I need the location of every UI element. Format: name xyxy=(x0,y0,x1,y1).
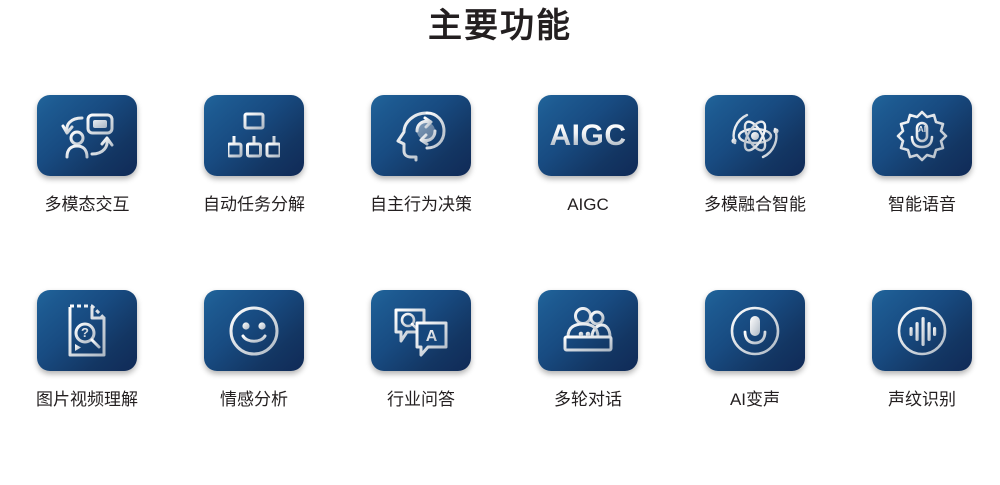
feature-label: AIGC xyxy=(567,194,609,216)
feature-item-multimodal-fusion[interactable]: 多模融合智能 xyxy=(679,95,831,290)
feature-label: 图片视频理解 xyxy=(36,389,138,411)
aigc-text-icon: AIGC xyxy=(550,121,627,151)
feature-label: 多轮对话 xyxy=(554,389,622,411)
feature-tile[interactable] xyxy=(705,95,805,176)
feature-label: 多模融合智能 xyxy=(704,194,806,216)
feature-tile[interactable] xyxy=(538,290,638,371)
feature-label: 多模态交互 xyxy=(45,194,130,216)
feature-item-intelligent-voice[interactable]: AI 智能语音 xyxy=(846,95,998,290)
atom-orbit-icon xyxy=(727,109,783,163)
feature-tile[interactable] xyxy=(705,290,805,371)
feature-label: 自主行为决策 xyxy=(370,194,472,216)
feature-item-aigc[interactable]: AIGC AIGC xyxy=(512,95,664,290)
feature-tile[interactable] xyxy=(204,95,304,176)
document-search-question-icon: ? xyxy=(64,304,110,358)
feature-tile[interactable] xyxy=(37,95,137,176)
answer-letter: A xyxy=(426,328,438,345)
head-refresh-icon xyxy=(394,110,448,162)
feature-row: 多模态交互 自动任务分 xyxy=(0,95,1000,290)
feature-label: 情感分析 xyxy=(220,389,288,411)
page-title: 主要功能 xyxy=(0,4,1000,48)
ai-label: AI xyxy=(918,125,926,134)
feature-item-autonomous-decision[interactable]: 自主行为决策 xyxy=(345,95,497,290)
feature-label: AI变声 xyxy=(730,389,780,411)
feature-tile[interactable] xyxy=(204,290,304,371)
feature-tile[interactable]: AIGC xyxy=(538,95,638,176)
feature-label: 声纹识别 xyxy=(888,389,956,411)
feature-tile[interactable]: AI xyxy=(872,95,972,176)
feature-item-industry-qa[interactable]: A 行业问答 xyxy=(345,290,497,485)
microphone-circle-icon xyxy=(729,305,781,357)
group-conversation-icon xyxy=(559,307,617,355)
feature-row: ? 图片视频理解 情感 xyxy=(0,290,1000,485)
feature-grid: 多模态交互 自动任务分 xyxy=(0,95,1000,485)
gear-ai-microphone-icon: AI xyxy=(895,110,949,162)
feature-tile[interactable] xyxy=(371,95,471,176)
smiley-face-icon xyxy=(228,305,280,357)
feature-label: 智能语音 xyxy=(888,194,956,216)
user-screen-exchange-icon xyxy=(58,110,116,162)
feature-tile[interactable] xyxy=(872,290,972,371)
qa-speech-bubbles-icon: A xyxy=(393,305,449,357)
feature-item-image-video-understanding[interactable]: ? 图片视频理解 xyxy=(11,290,163,485)
feature-label: 自动任务分解 xyxy=(203,194,305,216)
feature-item-voiceprint-recognition[interactable]: 声纹识别 xyxy=(846,290,998,485)
feature-label: 行业问答 xyxy=(387,389,455,411)
feature-item-multimodal-interaction[interactable]: 多模态交互 xyxy=(11,95,163,290)
voiceprint-waveform-icon xyxy=(896,305,948,357)
feature-item-multi-turn-dialogue[interactable]: 多轮对话 xyxy=(512,290,664,485)
feature-item-sentiment-analysis[interactable]: 情感分析 xyxy=(178,290,330,485)
feature-tile[interactable]: ? xyxy=(37,290,137,371)
question-mark: ? xyxy=(81,325,89,340)
feature-item-auto-task-decomposition[interactable]: 自动任务分解 xyxy=(178,95,330,290)
hierarchy-tree-icon xyxy=(228,112,280,160)
feature-item-ai-voice-change[interactable]: AI变声 xyxy=(679,290,831,485)
feature-tile[interactable]: A xyxy=(371,290,471,371)
